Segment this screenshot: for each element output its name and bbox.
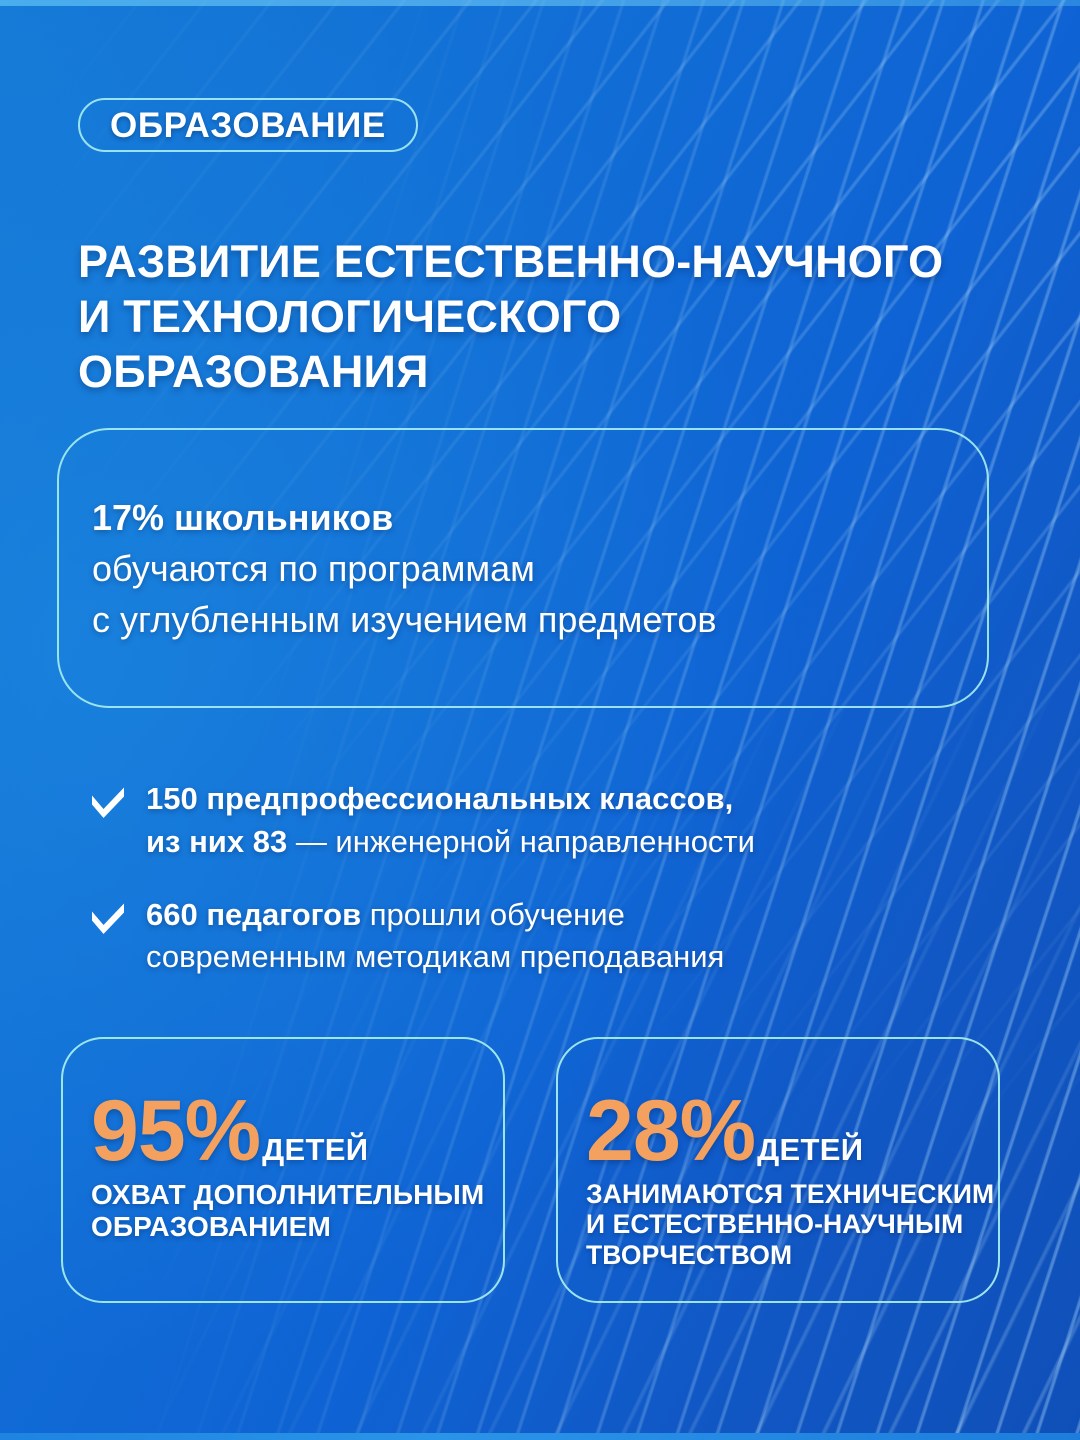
bullet-2-line-1-rest: прошли обучение [361, 897, 625, 932]
stat-description-line-1: ЗАНИМАЮТСЯ ТЕХНИЧЕСКИМ [586, 1179, 982, 1210]
list-item: 150 предпрофессиональных классов, из них… [88, 778, 988, 864]
bullet-1-line-2-bold: из них 83 [146, 824, 287, 859]
highlight-card: 17% школьников обучаются по программам с… [57, 428, 989, 708]
stat-description: ОХВАТ ДОПОЛНИТЕЛЬНЫМ ОБРАЗОВАНИЕМ [91, 1179, 487, 1244]
stat-card-body: 28% ДЕТЕЙ ЗАНИМАЮТСЯ ТЕХНИЧЕСКИМ И ЕСТЕС… [586, 1091, 982, 1271]
bullet-2-line-2: современным методикам преподавания [146, 939, 724, 974]
stat-value: 28% [586, 1091, 755, 1173]
bullet-1-line-1: 150 предпрофессиональных классов, [146, 781, 733, 816]
list-item-text: 150 предпрофессиональных классов, из них… [146, 778, 755, 864]
page-title-line-1: РАЗВИТИЕ ЕСТЕСТВЕННО-НАУЧНОГО [78, 235, 1018, 290]
bullet-2-line-1-bold: 660 педагогов [146, 897, 361, 932]
stat-headline: 28% ДЕТЕЙ [586, 1091, 982, 1173]
stat-headline: 95% ДЕТЕЙ [91, 1091, 487, 1173]
stat-description-line-2: И ЕСТЕСТВЕННО-НАУЧНЫМ [586, 1209, 982, 1240]
list-item-text: 660 педагогов прошли обучение современны… [146, 894, 724, 980]
page-title-line-2: И ТЕХНОЛОГИЧЕСКОГО [78, 290, 1018, 345]
highlight-card-body: 17% школьников обучаются по программам с… [92, 492, 967, 645]
category-badge: ОБРАЗОВАНИЕ [78, 98, 418, 152]
stat-description-line-1: ОХВАТ ДОПОЛНИТЕЛЬНЫМ [91, 1179, 487, 1211]
stat-suffix: ДЕТЕЙ [262, 1134, 368, 1165]
stat-card-body: 95% ДЕТЕЙ ОХВАТ ДОПОЛНИТЕЛЬНЫМ ОБРАЗОВАН… [91, 1091, 487, 1244]
highlight-line-2: обучаются по программам [92, 543, 967, 594]
highlight-line-1: 17% школьников [92, 492, 967, 543]
check-icon [88, 782, 128, 822]
infographic-poster: ОБРАЗОВАНИЕ РАЗВИТИЕ ЕСТЕСТВЕННО-НАУЧНОГ… [0, 0, 1080, 1440]
stat-description-line-2: ОБРАЗОВАНИЕМ [91, 1211, 487, 1243]
list-item: 660 педагогов прошли обучение современны… [88, 894, 988, 980]
category-badge-label: ОБРАЗОВАНИЕ [110, 108, 386, 143]
check-icon [88, 898, 128, 938]
bullet-1-line-2-rest: — инженерной направленности [287, 824, 755, 859]
stat-description: ЗАНИМАЮТСЯ ТЕХНИЧЕСКИМ И ЕСТЕСТВЕННО-НАУ… [586, 1179, 982, 1271]
stat-card-technical-creativity: 28% ДЕТЕЙ ЗАНИМАЮТСЯ ТЕХНИЧЕСКИМ И ЕСТЕС… [556, 1037, 1000, 1303]
stat-description-line-3: ТВОРЧЕСТВОМ [586, 1240, 982, 1271]
page-title-line-3: ОБРАЗОВАНИЯ [78, 345, 1018, 400]
highlight-stat-value: 17% школьников [92, 497, 393, 538]
highlight-line-3: с углубленным изучением предметов [92, 594, 967, 645]
stat-card-coverage: 95% ДЕТЕЙ ОХВАТ ДОПОЛНИТЕЛЬНЫМ ОБРАЗОВАН… [61, 1037, 505, 1303]
page-title: РАЗВИТИЕ ЕСТЕСТВЕННО-НАУЧНОГО И ТЕХНОЛОГ… [78, 235, 1018, 400]
bottom-edge-strip [0, 1433, 1080, 1440]
bullet-list: 150 предпрофессиональных классов, из них… [88, 778, 988, 979]
top-edge-strip [0, 0, 1080, 6]
stat-value: 95% [91, 1091, 260, 1173]
stat-suffix: ДЕТЕЙ [757, 1134, 863, 1165]
